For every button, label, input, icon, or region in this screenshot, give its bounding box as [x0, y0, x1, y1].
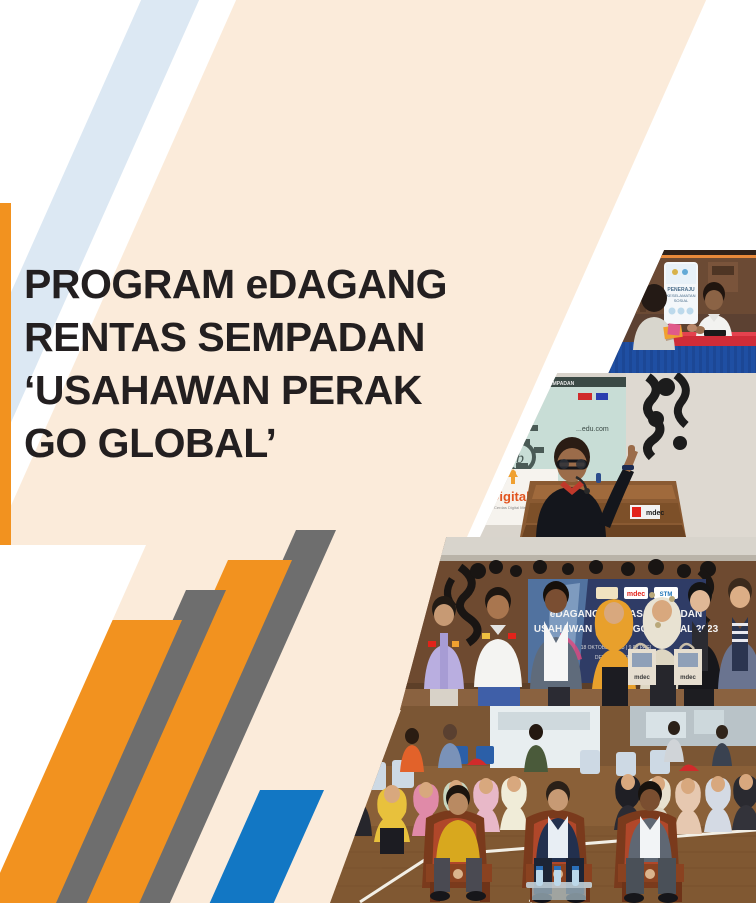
svg-text:SOSIAL: SOSIAL: [674, 298, 689, 303]
title-line-2: RENTAS SEMPADAN: [24, 311, 564, 364]
audience-photo: [330, 706, 756, 903]
svg-text:mdec: mdec: [646, 510, 664, 517]
title-line-1: PROGRAM eDAGANG: [24, 258, 564, 311]
poster-canvas: PENERAJU KESELAMATAN SOSIAL: [0, 0, 756, 903]
svg-text:mdec: mdec: [680, 675, 696, 681]
title-line-4: GO GLOBAL’: [24, 417, 564, 470]
poster-title: PROGRAM eDAGANG RENTAS SEMPADAN ‘USAHAWA…: [24, 258, 564, 470]
svg-text:...edu.com: ...edu.com: [576, 426, 609, 433]
title-line-3: ‘USAHAWAN PERAK: [24, 364, 564, 417]
svg-text:mdec: mdec: [627, 591, 645, 598]
svg-text:mdec: mdec: [634, 675, 650, 681]
group-photo: mdec STM eDAGANG RENTAS SEMPADAN USAHAWA…: [400, 537, 756, 710]
orange-accent-bar: [0, 203, 11, 545]
booth-consultation-photo: PENERAJU KESELAMATAN SOSIAL: [608, 250, 756, 374]
